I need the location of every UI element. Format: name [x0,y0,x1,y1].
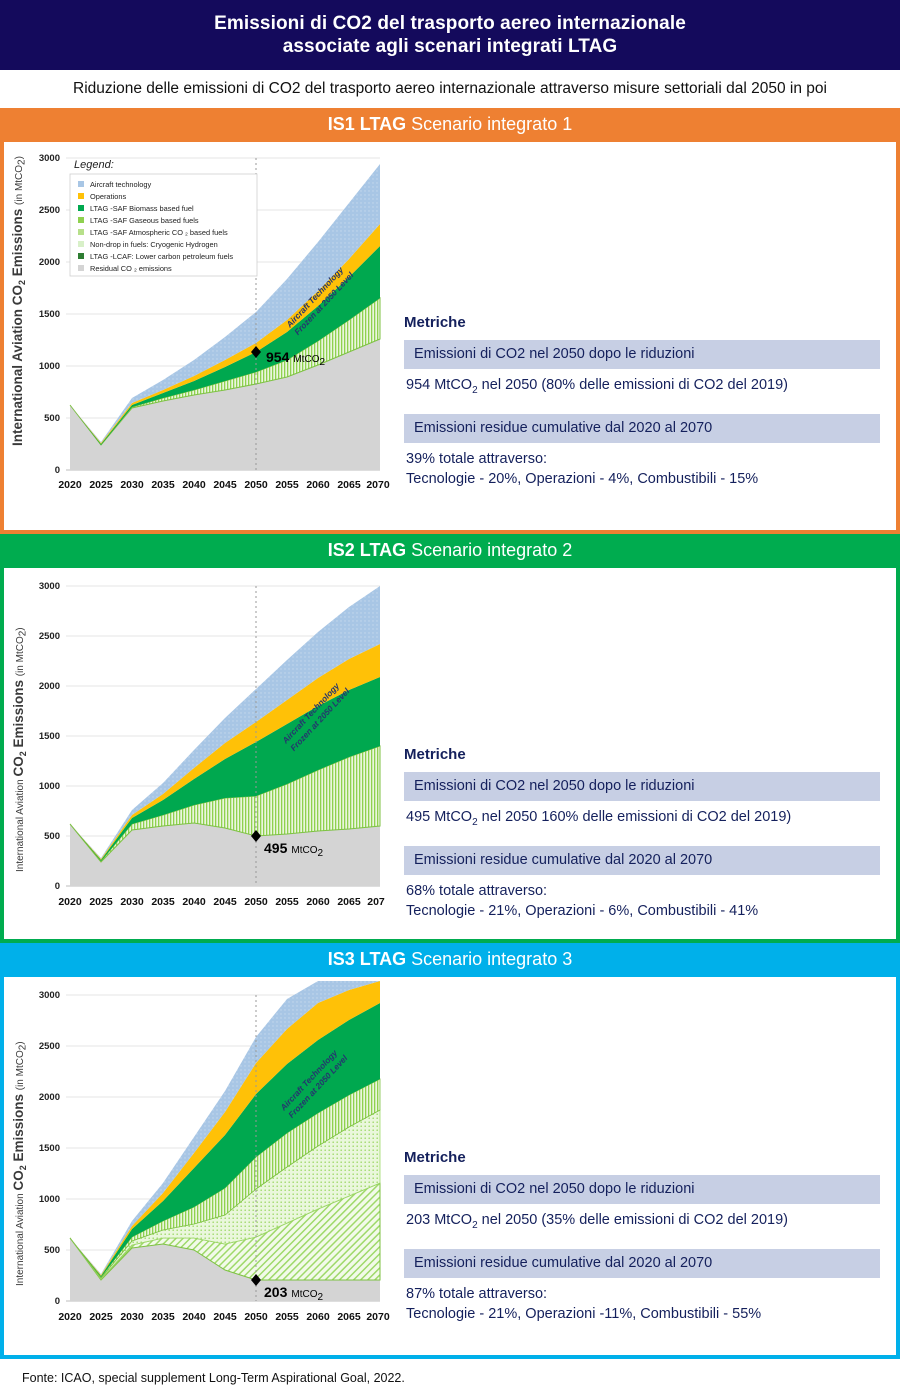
chart-areas-is3 [70,981,380,1301]
chart-is3: International Aviation CO2 Emissions (in… [8,981,390,1355]
svg-text:0: 0 [55,465,60,476]
svg-text:2500: 2500 [39,205,60,216]
metrics-title-is1: Metriche [404,314,880,331]
metrics-pane-is3: Metriche Emissioni di CO2 nel 2050 dopo … [390,977,896,1355]
svg-text:1000: 1000 [39,1194,60,1205]
subtitle-text: Riduzione delle emissioni di CO2 del tra… [73,80,827,98]
metric-head-cumulative-is3: Emissioni residue cumulative dal 2020 al… [404,1249,880,1278]
metric-cumulative-line1-is1: 39% totale attraverso: [404,443,880,469]
svg-text:2055: 2055 [275,1311,299,1323]
svg-text:2040: 2040 [182,1311,206,1323]
chart-pane-is3: International Aviation CO2 Emissions (in… [4,977,390,1355]
svg-text:2020: 2020 [58,1311,82,1323]
annotation-value-is1: 954 [266,349,290,365]
svg-text:2000: 2000 [39,257,60,268]
y-tick-labels-is1: 3000 2500 2000 1500 1000 500 0 [39,153,60,476]
svg-text:2025: 2025 [89,1311,113,1323]
svg-text:2500: 2500 [39,631,60,642]
svg-text:2045: 2045 [213,896,237,908]
svg-text:3000: 3000 [39,581,60,592]
svg-text:2040: 2040 [182,479,206,491]
svg-text:2060: 2060 [306,479,330,491]
svg-text:2045: 2045 [213,479,237,491]
svg-text:2070: 2070 [366,1311,390,1323]
metric-head-2050-is1: Emissioni di CO2 nel 2050 dopo le riduzi… [404,340,880,369]
y-tick-labels-is2: 3000 2500 2000 1500 1000 500 0 [39,581,60,892]
scenario-block-is2: IS2 LTAG Scenario integrato 2 Internatio… [0,534,900,943]
metric-value-2050-is3: 203 MtCO2 nel 2050 (35% delle emissioni … [404,1204,880,1236]
svg-text:LTAG -SAF Atmospheric CO ₂ bas: LTAG -SAF Atmospheric CO ₂ based fuels [90,228,228,237]
x-tick-labels-is1: 2020 2025 2030 2035 2040 2045 2050 2055 … [58,479,390,491]
svg-text:2065: 2065 [337,1311,361,1323]
svg-text:2055: 2055 [275,896,299,908]
svg-text:2060: 2060 [306,896,330,908]
scenario-name-is3: Scenario integrato 3 [406,949,572,969]
annotation-value-is3: 203 [264,1284,288,1300]
svg-text:2000: 2000 [39,681,60,692]
svg-text:Residual CO ₂ emissions: Residual CO ₂ emissions [90,264,172,273]
metrics-title-is3: Metriche [404,1149,880,1166]
svg-text:2030: 2030 [120,896,144,908]
svg-text:2050: 2050 [244,896,268,908]
svg-text:2055: 2055 [275,479,299,491]
svg-text:2035: 2035 [151,896,175,908]
scenario-header-is3: IS3 LTAG Scenario integrato 3 [0,943,900,977]
svg-text:2000: 2000 [39,1092,60,1103]
svg-text:3000: 3000 [39,990,60,1001]
x-tick-labels-is3: 2020 2025 2030 2035 2040 2045 2050 2055 … [58,1311,390,1323]
svg-text:1000: 1000 [39,781,60,792]
main-header: Emissioni di CO2 del trasporto aereo int… [0,0,900,70]
metric-value-2050-is2: 495 MtCO2 nel 2050 160% delle emissioni … [404,801,880,833]
svg-text:1500: 1500 [39,731,60,742]
svg-text:2065: 2065 [337,479,361,491]
main-title-line-2: associate agli scenari integrati LTAG [40,35,860,58]
chart-pane-is2: International Aviation CO2 Emissions (in… [4,568,390,939]
scenario-header-is1: IS1 LTAG Scenario integrato 1 [0,108,900,142]
scenario-block-is1: IS1 LTAG Scenario integrato 1 Internatio… [0,108,900,534]
y-axis-label-is1: International Aviation CO2 Emissions (in… [10,156,28,446]
svg-text:Non-drop in fuels: Cryogenic H: Non-drop in fuels: Cryogenic Hydrogen [90,240,218,249]
metric-cumulative-line2-is2: Tecnologie - 21%, Operazioni - 6%, Combu… [404,901,880,921]
svg-text:500: 500 [44,413,60,424]
svg-text:2030: 2030 [120,479,144,491]
scenario-name-is1: Scenario integrato 1 [406,114,572,134]
svg-text:2035: 2035 [151,479,175,491]
svg-text:2030: 2030 [120,1311,144,1323]
svg-text:Operations: Operations [90,192,126,201]
y-tick-labels-is3: 3000 2500 2000 1500 1000 500 0 [39,990,60,1307]
svg-text:1500: 1500 [39,1143,60,1154]
svg-text:2020: 2020 [58,479,82,491]
svg-text:2025: 2025 [89,896,113,908]
x-tick-labels-is2: 2020 2025 2030 2035 2040 2045 2050 2055 … [58,896,385,908]
scenario-code-is2: IS2 LTAG [328,540,406,560]
scenario-code-is3: IS3 LTAG [328,949,406,969]
svg-text:LTAG -SAF Gaseous based fuels: LTAG -SAF Gaseous based fuels [90,216,199,225]
svg-text:1500: 1500 [39,309,60,320]
metric-head-2050-is2: Emissioni di CO2 nel 2050 dopo le riduzi… [404,772,880,801]
y-axis-label-is3: International Aviation CO2 Emissions (in… [11,1041,29,1286]
svg-text:0: 0 [55,881,60,892]
metric-cumulative-line2-is3: Tecnologie - 21%, Operazioni -11%, Combu… [404,1304,880,1324]
svg-text:2050: 2050 [244,1311,268,1323]
svg-text:Aircraft technology: Aircraft technology [90,180,152,189]
svg-text:1000: 1000 [39,361,60,372]
chart-is2: International Aviation CO2 Emissions (in… [8,572,390,940]
metric-head-2050-is3: Emissioni di CO2 nel 2050 dopo le riduzi… [404,1175,880,1204]
metric-head-cumulative-is1: Emissioni residue cumulative dal 2020 al… [404,414,880,443]
svg-text:2065: 2065 [337,896,361,908]
chart-is1: International Aviation CO2 Emissions (in… [8,146,390,526]
metric-cumulative-line1-is2: 68% totale attraverso: [404,875,880,901]
svg-text:500: 500 [44,831,60,842]
scenario-block-is3: IS3 LTAG Scenario integrato 3 [0,943,900,1359]
y-axis-label-is2: International Aviation CO2 Emissions (in… [11,627,29,872]
footer-source: Fonte: ICAO, special supplement Long-Ter… [0,1359,900,1385]
svg-text:Legend:: Legend: [74,159,114,171]
svg-text:2045: 2045 [213,1311,237,1323]
infographic-page: Emissioni di CO2 del trasporto aereo int… [0,0,900,1400]
scenario-code-is1: IS1 LTAG [328,114,406,134]
svg-text:0: 0 [55,1296,60,1307]
metric-cumulative-line1-is3: 87% totale attraverso: [404,1278,880,1304]
chart-pane-is1: International Aviation CO2 Emissions (in… [4,142,390,530]
metric-cumulative-line2-is1: Tecnologie - 20%, Operazioni - 4%, Combu… [404,469,880,489]
metric-value-2050-is1: 954 MtCO2 nel 2050 (80% delle emissioni … [404,369,880,401]
svg-text:207: 207 [367,896,385,908]
svg-text:2070: 2070 [366,479,390,491]
svg-text:3000: 3000 [39,153,60,164]
scenario-name-is2: Scenario integrato 2 [406,540,572,560]
svg-text:2500: 2500 [39,1041,60,1052]
svg-text:LTAG -LCAF: Lower carbon petro: LTAG -LCAF: Lower carbon petroleum fuels [90,252,233,261]
scenario-header-is2: IS2 LTAG Scenario integrato 2 [0,534,900,568]
metrics-pane-is1: Metriche Emissioni di CO2 nel 2050 dopo … [390,142,896,530]
svg-text:2060: 2060 [306,1311,330,1323]
metrics-pane-is2: Metriche Emissioni di CO2 nel 2050 dopo … [390,568,896,939]
svg-text:LTAG -SAF Biomass based fuel: LTAG -SAF Biomass based fuel [90,204,194,213]
annotation-value-is2: 495 [264,840,288,856]
svg-text:2035: 2035 [151,1311,175,1323]
svg-text:500: 500 [44,1245,60,1256]
metrics-title-is2: Metriche [404,746,880,763]
metric-head-cumulative-is2: Emissioni residue cumulative dal 2020 al… [404,846,880,875]
subtitle-bar: Riduzione delle emissioni di CO2 del tra… [0,70,900,108]
svg-text:2040: 2040 [182,896,206,908]
svg-text:2050: 2050 [244,479,268,491]
svg-text:2025: 2025 [89,479,113,491]
chart-legend-is1: Legend: Aircraft technology Operations L… [70,159,257,276]
main-title-line-1: Emissioni di CO2 del trasporto aereo int… [40,12,860,35]
svg-text:2020: 2020 [58,896,82,908]
